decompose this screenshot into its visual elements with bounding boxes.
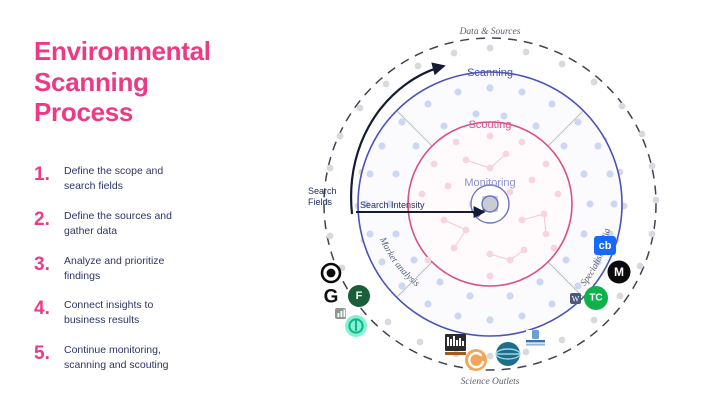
list-item: 2. Define the sources and gather data	[34, 209, 284, 239]
idc-badge[interactable]	[322, 264, 340, 282]
step-text: Connect insights to business results	[64, 298, 284, 328]
crunchbase-badge-text: cb	[599, 240, 612, 252]
steps-list: 1. Define the scope and search fields 2.…	[34, 164, 284, 373]
step-number: 4.	[34, 298, 64, 319]
step-number: 3.	[34, 254, 64, 275]
list-item: 3. Analyze and prioritize findings	[34, 254, 284, 284]
step-text: Analyze and prioritize findings	[64, 254, 284, 284]
medium-badge-text: M	[614, 265, 624, 279]
mint-badge[interactable]	[345, 315, 367, 337]
search-fields-label-line2: Fields	[308, 197, 333, 207]
wired-badge[interactable]: W	[570, 293, 581, 304]
step-number: 2.	[34, 209, 64, 230]
science-outlets-label: Science Outlets	[461, 377, 520, 387]
left-content-panel: Environmental Scanning Process 1. Define…	[34, 36, 284, 388]
environmental-scanning-diagram: Scanning Scouting Monitoring Data & Sour…	[294, 8, 714, 400]
data-and-sources-label: Data & Sources	[459, 27, 521, 37]
springer-badge[interactable]	[496, 342, 520, 366]
step-number: 5.	[34, 343, 64, 364]
page-title: Environmental Scanning Process	[34, 36, 284, 128]
statista-badge[interactable]	[335, 308, 346, 319]
list-item: 5. Continue monitoring, scanning and sco…	[34, 343, 284, 373]
step-number: 1.	[34, 164, 64, 185]
search-intensity-label: Search Intensity	[360, 200, 425, 210]
gartner-badge[interactable]: G	[324, 287, 339, 308]
step-text: Define the sources and gather data	[64, 209, 284, 239]
svg-text:W: W	[572, 295, 580, 304]
monitoring-core-label: Monitoring	[464, 177, 515, 189]
techcrunch-badge-text: TC	[589, 293, 602, 304]
forrester-badge[interactable]: F	[348, 285, 370, 307]
forrester-badge-text: F	[356, 290, 363, 302]
scouting-ring-label: Scouting	[469, 119, 512, 131]
crunchbase-badge[interactable]: cb	[594, 236, 616, 255]
gartner-badge-text: G	[324, 287, 339, 308]
elsevier-badge[interactable]	[465, 349, 487, 371]
techcrunch-badge[interactable]: TC	[584, 286, 608, 310]
step-text: Continue monitoring, scanning and scouti…	[64, 343, 284, 373]
slide-canvas: Environmental Scanning Process 1. Define…	[0, 0, 720, 404]
ieee-badge[interactable]	[526, 330, 545, 346]
scanning-ring-label: Scanning	[467, 67, 513, 79]
step-text: Define the scope and search fields	[64, 164, 284, 194]
medium-badge[interactable]: M	[608, 261, 631, 284]
list-item: 1. Define the scope and search fields	[34, 164, 284, 194]
search-fields-label-line1: Search	[308, 186, 337, 196]
list-item: 4. Connect insights to business results	[34, 298, 284, 328]
